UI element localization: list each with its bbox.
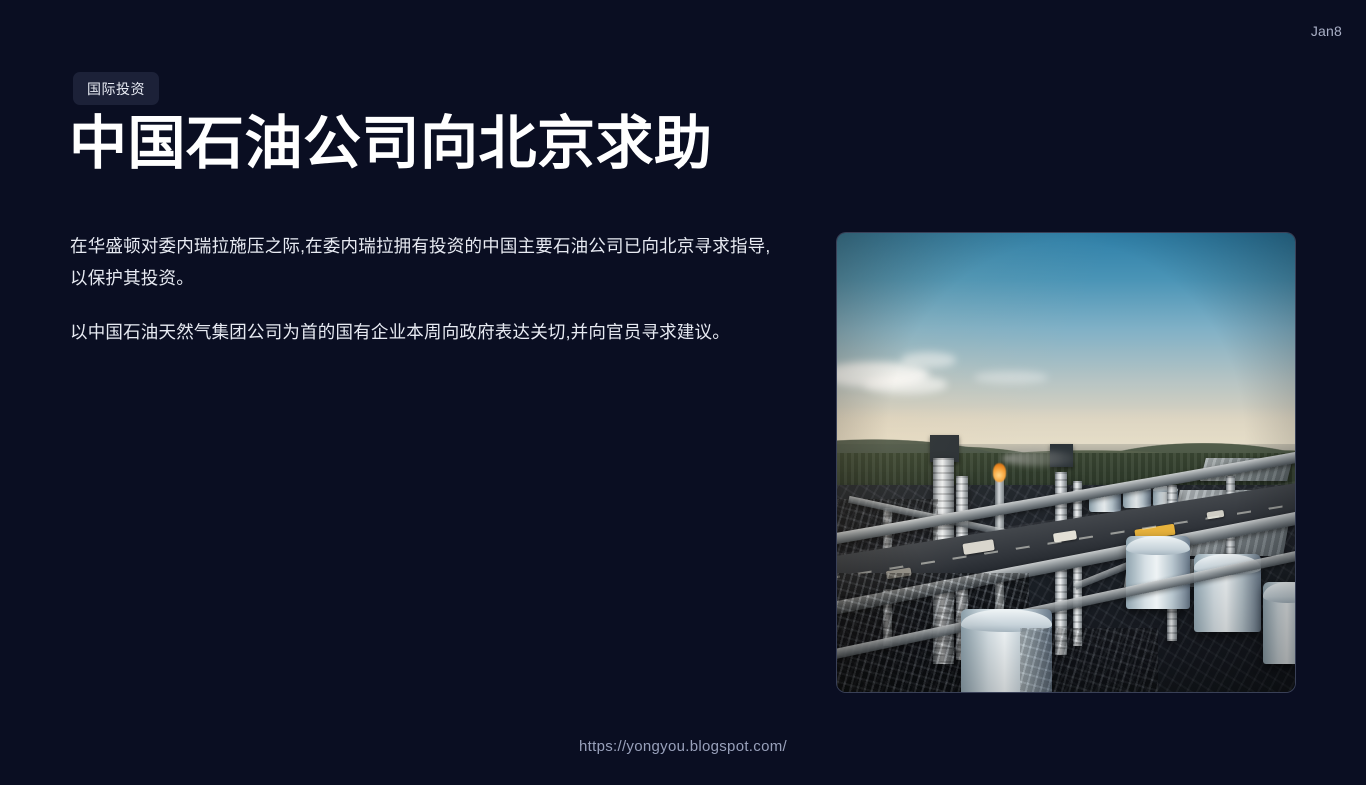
- flare-smoke: [1002, 451, 1080, 466]
- refinery-photo-canvas: [837, 233, 1295, 692]
- body-paragraph-2: 以中国石油天然气集团公司为首的国有企业本周向政府表达关切,并向官员寻求建议。: [70, 316, 782, 348]
- vehicle: [1207, 509, 1225, 519]
- body-paragraph-1: 在华盛顿对委内瑞拉施压之际,在委内瑞拉拥有投资的中国主要石油公司已向北京寻求指导…: [70, 230, 782, 294]
- vehicle: [962, 539, 995, 555]
- cloud-shape: [864, 375, 946, 393]
- date-label: Jan8: [1311, 24, 1342, 38]
- category-badge: 国际投资: [73, 72, 159, 105]
- storage-tank: [1126, 536, 1190, 609]
- body-text-column: 在华盛顿对委内瑞拉施压之际,在委内瑞拉拥有投资的中国主要石油公司已向北京寻求指导…: [70, 230, 782, 348]
- cloud-shape: [901, 352, 956, 368]
- pipework-clutter: [1020, 628, 1157, 692]
- storage-tank: [1263, 582, 1295, 665]
- vehicle: [1054, 530, 1078, 543]
- flare-flame-icon: [993, 463, 1007, 482]
- page-title: 中国石油公司向北京求助: [69, 114, 713, 175]
- refinery-photo: [837, 233, 1295, 692]
- slide-root: Jan8 国际投资 中国石油公司向北京求助 在华盛顿对委内瑞拉施压之际,在委内瑞…: [0, 0, 1366, 785]
- footer-url: https://yongyou.blogspot.com/: [0, 738, 1366, 755]
